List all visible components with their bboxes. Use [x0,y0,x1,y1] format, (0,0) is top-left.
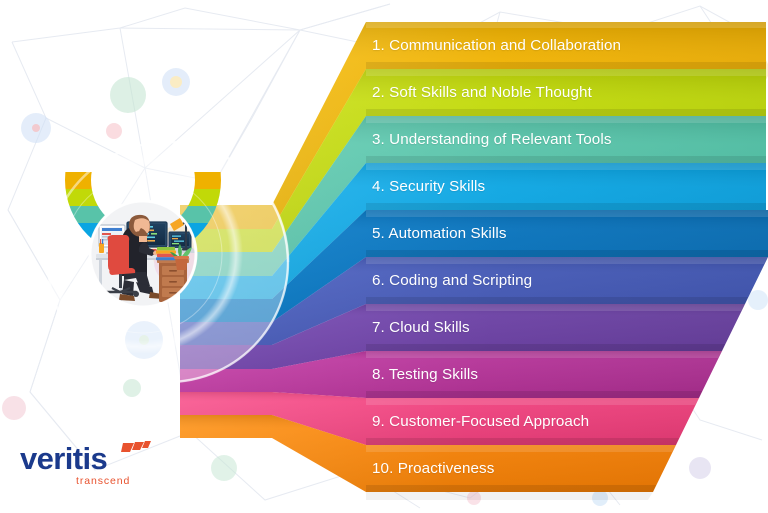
veritis-logo[interactable]: veritis transcend [20,443,170,495]
funnel-label-8: 8. Testing Skills [372,367,478,382]
funnel-label-1: 1. Communication and Collaboration [372,38,621,53]
funnel-labels: 1. Communication and Collaboration 2. So… [0,0,768,513]
funnel-label-7: 7. Cloud Skills [372,320,470,335]
infographic-canvas: 1. Communication and Collaboration 2. So… [0,0,768,513]
funnel-label-5: 5. Automation Skills [372,226,507,241]
funnel-label-2: 2. Soft Skills and Noble Thought [372,85,592,100]
funnel-label-9: 9. Customer-Focused Approach [372,414,589,429]
funnel-label-6: 6. Coding and Scripting [372,273,532,288]
logo-tagline: transcend [76,476,130,487]
logo-wordmark: veritis [20,443,107,474]
veritis-chevron-mark-icon [121,440,151,456]
funnel-label-10: 10. Proactiveness [372,461,494,476]
funnel-label-4: 4. Security Skills [372,179,485,194]
funnel-label-3: 3. Understanding of Relevant Tools [372,132,612,147]
